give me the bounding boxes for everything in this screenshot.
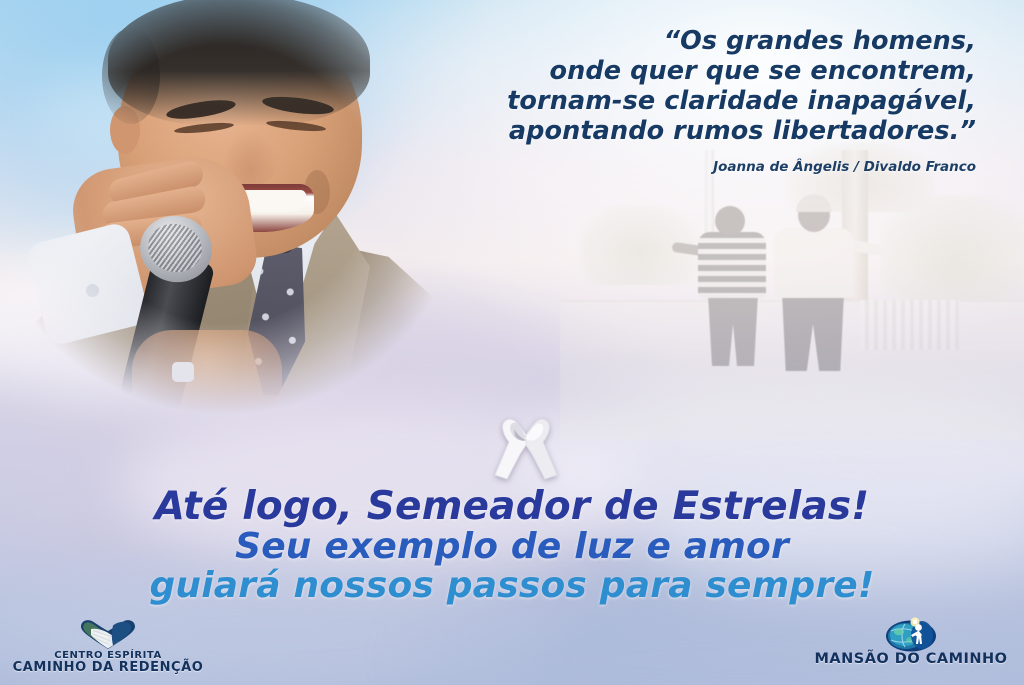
quote-line-2: onde quer que se encontrem,	[356, 56, 976, 86]
centro-espirita-logo: CENTRO ESPÍRITA CAMINHO DA REDENÇÃO	[8, 618, 208, 674]
memorial-poster: “Os grandes homens, onde quer que se enc…	[0, 0, 1024, 685]
headline-block: Até logo, Semeador de Estrelas! Seu exem…	[0, 486, 1024, 605]
faded-background-photo	[560, 150, 1024, 440]
headline-line-2: Seu exemplo de luz e amor	[0, 527, 1024, 566]
quote-attribution: Joanna de Ângelis / Divaldo Franco	[356, 159, 976, 175]
centro-espirita-label-line2: CAMINHO DA REDENÇÃO	[8, 662, 208, 674]
quote-line-1: “Os grandes homens,	[356, 26, 976, 56]
mansao-do-caminho-logo: MANSÃO DO CAMINHO	[806, 613, 1016, 665]
quote-line-3: tornam-se claridade inapagável,	[356, 86, 976, 116]
mansao-do-caminho-label: MANSÃO DO CAMINHO	[806, 653, 1016, 665]
quote-line-4: apontando rumos libertadores.”	[356, 116, 976, 146]
headline-line-3: guiará nossos passos para sempre!	[0, 566, 1024, 605]
globe-figure-icon	[884, 613, 938, 653]
quote-block: “Os grandes homens, onde quer que se enc…	[356, 26, 976, 175]
heart-hands-icon	[79, 618, 137, 650]
white-mourning-ribbon-icon	[487, 409, 565, 485]
headline-line-1: Até logo, Semeador de Estrelas!	[0, 486, 1024, 527]
